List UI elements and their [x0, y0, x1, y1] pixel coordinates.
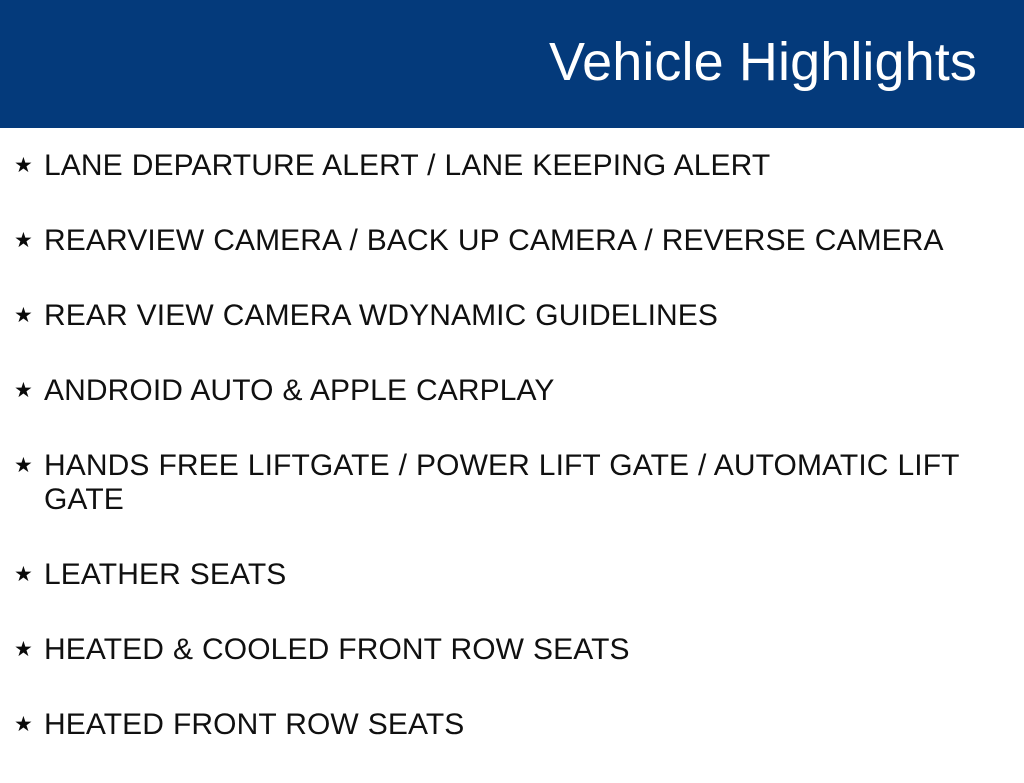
highlight-label: LANE DEPARTURE ALERT / LANE KEEPING ALER…	[44, 149, 964, 183]
list-item: ★ REAR VIEW CAMERA WDYNAMIC GUIDELINES	[14, 299, 964, 333]
list-item: ★ REARVIEW CAMERA / BACK UP CAMERA / REV…	[14, 224, 964, 258]
star-bullet-icon: ★	[14, 299, 44, 333]
highlight-label: HEATED & COOLED FRONT ROW SEATS	[44, 633, 964, 667]
highlight-label: ANDROID AUTO & APPLE CARPLAY	[44, 374, 964, 408]
star-bullet-icon: ★	[14, 633, 44, 667]
highlight-label: HEATED FRONT ROW SEATS	[44, 708, 964, 742]
star-bullet-icon: ★	[14, 374, 44, 408]
list-item: ★ HANDS FREE LIFTGATE / POWER LIFT GATE …	[14, 449, 964, 517]
list-item: ★ LANE DEPARTURE ALERT / LANE KEEPING AL…	[14, 149, 964, 183]
list-item: ★ HEATED FRONT ROW SEATS	[14, 708, 964, 742]
star-bullet-icon: ★	[14, 224, 44, 258]
vehicle-highlights-slide: Vehicle Highlights ★ LANE DEPARTURE ALER…	[0, 0, 1024, 768]
highlight-label: REARVIEW CAMERA / BACK UP CAMERA / REVER…	[44, 224, 964, 258]
vehicle-highlights-list: ★ LANE DEPARTURE ALERT / LANE KEEPING AL…	[0, 128, 1024, 783]
highlight-label: REAR VIEW CAMERA WDYNAMIC GUIDELINES	[44, 299, 964, 333]
list-item: ★ LEATHER SEATS	[14, 558, 964, 592]
star-bullet-icon: ★	[14, 149, 44, 183]
star-bullet-icon: ★	[14, 708, 44, 742]
list-item: ★ HEATED & COOLED FRONT ROW SEATS	[14, 633, 964, 667]
highlight-label: LEATHER SEATS	[44, 558, 964, 592]
star-bullet-icon: ★	[14, 449, 44, 483]
page-title: Vehicle Highlights	[549, 34, 977, 95]
highlight-label: HANDS FREE LIFTGATE / POWER LIFT GATE / …	[44, 449, 964, 517]
star-bullet-icon: ★	[14, 558, 44, 592]
header-banner: Vehicle Highlights	[0, 0, 1024, 128]
list-item: ★ ANDROID AUTO & APPLE CARPLAY	[14, 374, 964, 408]
